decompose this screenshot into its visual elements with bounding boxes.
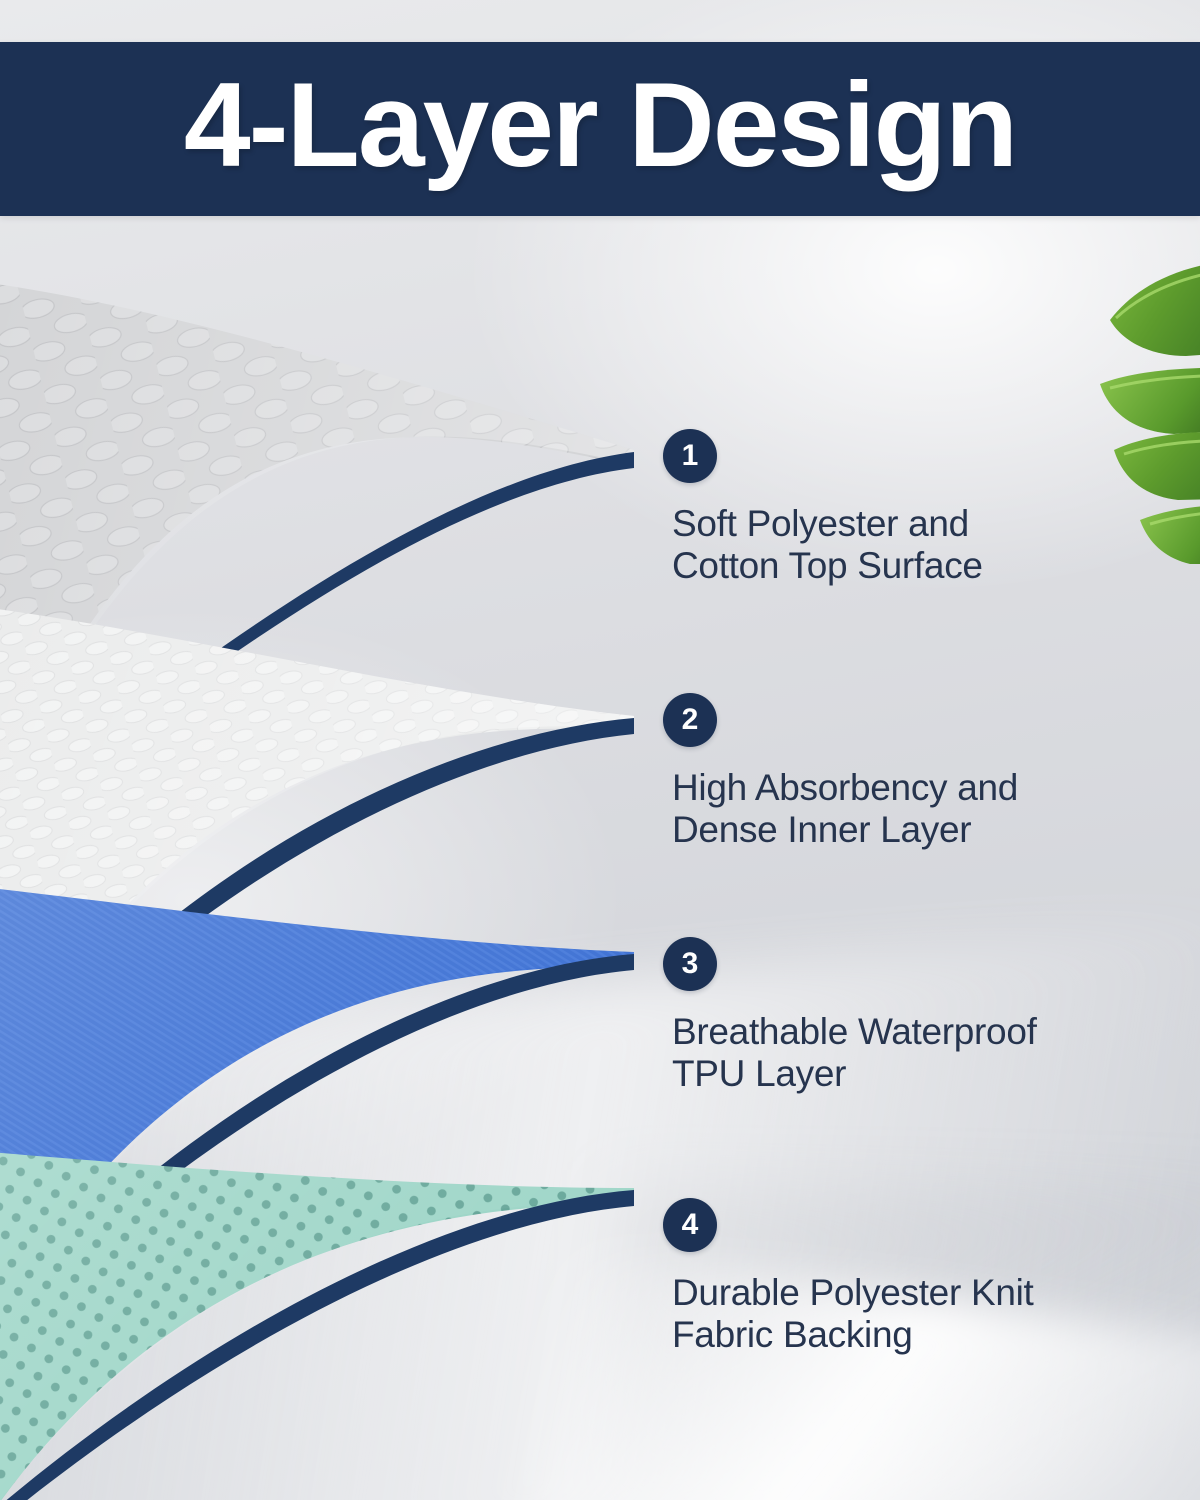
callout-label-3: Breathable Waterproof TPU Layer	[672, 1011, 1163, 1095]
callout-label-2: High Absorbency and Dense Inner Layer	[672, 767, 1163, 851]
badge-number-3: 3	[663, 937, 717, 991]
callout-layer-1: 1 Soft Polyester and Cotton Top Surface	[663, 429, 1163, 587]
badge-number-1: 1	[663, 429, 717, 483]
callout-list: 1 Soft Polyester and Cotton Top Surface …	[0, 0, 1200, 1500]
page-title: 4-Layer Design	[184, 65, 1016, 185]
callout-label-4: Durable Polyester Knit Fabric Backing	[672, 1272, 1163, 1356]
callout-layer-4: 4 Durable Polyester Knit Fabric Backing	[663, 1198, 1163, 1356]
badge-number-4: 4	[663, 1198, 717, 1252]
callout-label-1: Soft Polyester and Cotton Top Surface	[672, 503, 1163, 587]
callout-layer-3: 3 Breathable Waterproof TPU Layer	[663, 937, 1163, 1095]
header-banner: 4-Layer Design	[0, 42, 1200, 216]
badge-number-2: 2	[663, 693, 717, 747]
callout-layer-2: 2 High Absorbency and Dense Inner Layer	[663, 693, 1163, 851]
infographic-page: 1 Soft Polyester and Cotton Top Surface …	[0, 0, 1200, 1500]
